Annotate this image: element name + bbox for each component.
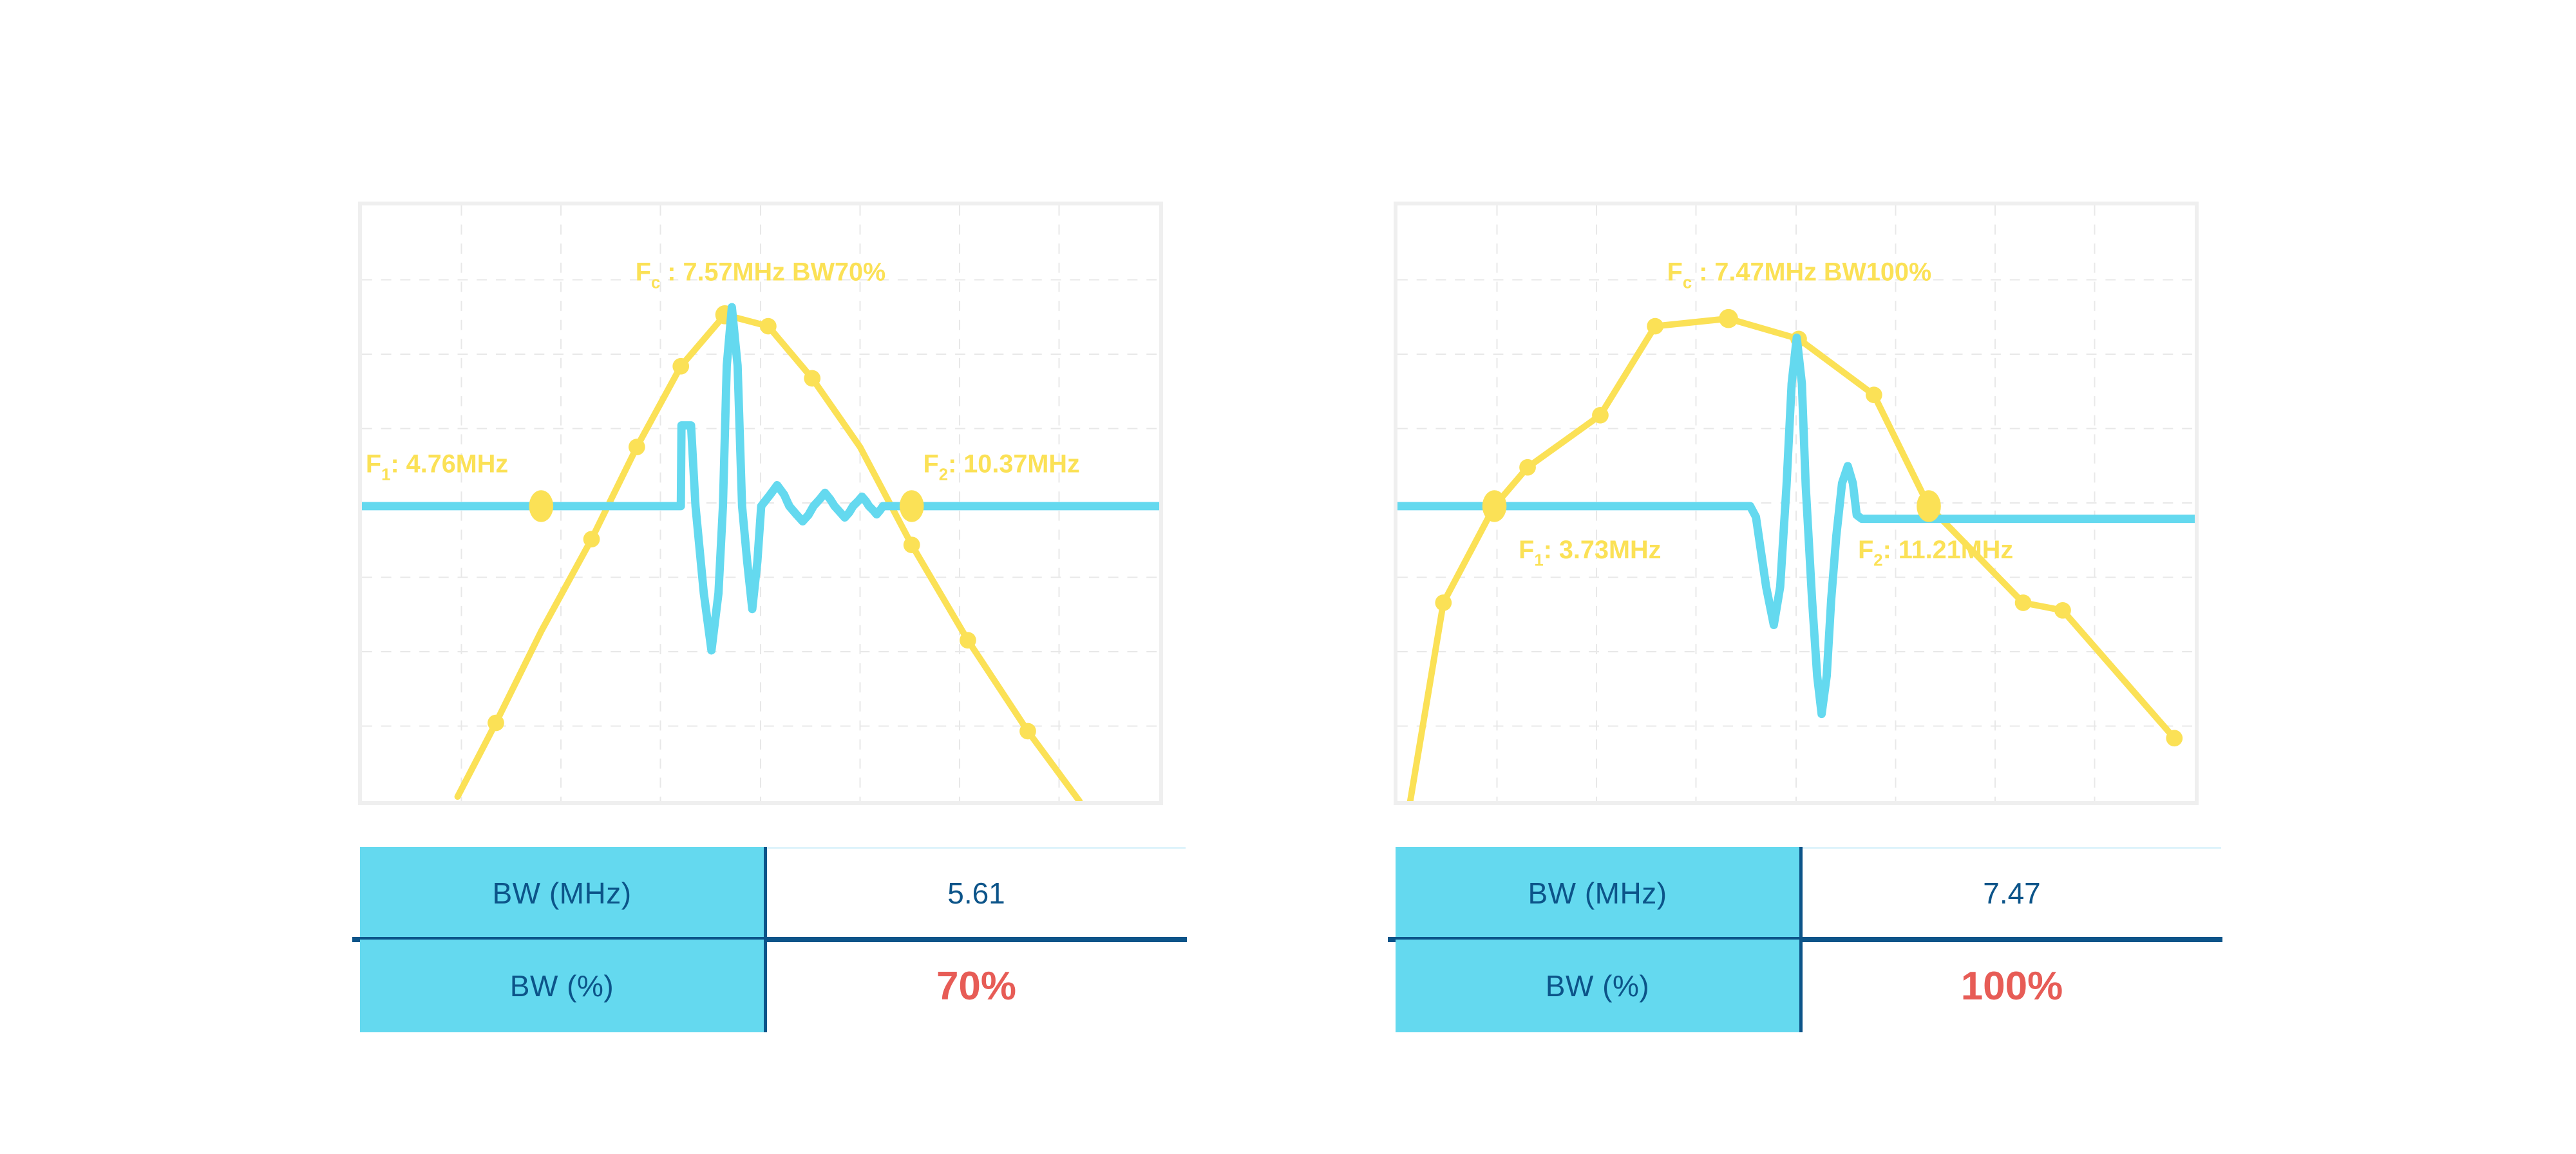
spectrum-plot-right: Fc : 7.47MHz BW100% F1: 3.73MHz F2: 11.2… bbox=[1397, 205, 2195, 801]
bw-mhz-value-left: 5.61 bbox=[767, 847, 1186, 940]
bw-table-right: BW (MHz) 7.47 BW (%) 100% bbox=[1396, 847, 2221, 1032]
f2-text-right: : 11.21MHz bbox=[1883, 536, 2014, 564]
spectrum-curve-left bbox=[458, 315, 1080, 801]
f2-prefix-right: F bbox=[1858, 536, 1873, 564]
plot-frame-right: Fc : 7.47MHz BW100% F1: 3.73MHz F2: 11.2… bbox=[1394, 202, 2199, 805]
pulse-waveform-right bbox=[1397, 337, 2195, 714]
f1-subscript-right: 1 bbox=[1534, 552, 1543, 570]
f1-prefix-right: F bbox=[1519, 536, 1534, 564]
bw-pct-label-left: BW (%) bbox=[360, 940, 767, 1032]
fc-prefix-left: F bbox=[636, 258, 651, 287]
f2-subscript-left: 2 bbox=[939, 466, 948, 484]
spectrum-plot-left: Fc : 7.57MHz BW70% F1: 4.76MHz F2: 10.37… bbox=[362, 205, 1159, 801]
fc-prefix-right: F bbox=[1667, 258, 1683, 287]
f2-text-left: : 10.37MHz bbox=[948, 450, 1080, 478]
f1-marker bbox=[529, 490, 553, 522]
f1-text-right: : 3.73MHz bbox=[1544, 536, 1662, 564]
bw-mhz-value-right: 7.47 bbox=[1803, 847, 2221, 940]
f2-subscript-right: 2 bbox=[1873, 552, 1882, 570]
f2-annotation-left: F2: 10.37MHz bbox=[923, 450, 1080, 484]
bw-pct-value-left: 70% bbox=[767, 940, 1186, 1032]
plot-frame-left: Fc : 7.57MHz BW70% F1: 4.76MHz F2: 10.37… bbox=[358, 202, 1163, 805]
bandwidth-comparison-figure: Fc : 7.57MHz BW70% F1: 4.76MHz F2: 10.37… bbox=[0, 0, 2576, 1154]
f1-subscript-left: 1 bbox=[381, 466, 390, 484]
fc-annotation-right: Fc : 7.47MHz BW100% bbox=[1667, 258, 1932, 292]
fc-text-right: : 7.47MHz BW100% bbox=[1692, 258, 1931, 287]
bw-pct-value-right: 100% bbox=[1803, 940, 2221, 1032]
table-row: BW (MHz) 5.61 bbox=[360, 847, 1186, 940]
table-row: BW (%) 70% bbox=[360, 940, 1186, 1032]
fc-subscript-left: c bbox=[651, 274, 660, 292]
f2-prefix-left: F bbox=[923, 450, 939, 478]
fc-text-left: : 7.57MHz BW70% bbox=[660, 258, 885, 287]
bw-table-left: BW (MHz) 5.61 BW (%) 70% bbox=[360, 847, 1186, 1032]
f2-marker bbox=[900, 490, 924, 522]
f1-prefix-left: F bbox=[366, 450, 381, 478]
bw-mhz-label-right: BW (MHz) bbox=[1396, 847, 1803, 940]
bw-mhz-label-left: BW (MHz) bbox=[360, 847, 767, 940]
table-row: BW (MHz) 7.47 bbox=[1396, 847, 2221, 940]
f1-annotation-right: F1: 3.73MHz bbox=[1519, 536, 1661, 570]
f2-marker bbox=[1917, 490, 1941, 522]
table-row: BW (%) 100% bbox=[1396, 940, 2221, 1032]
f1-annotation-left: F1: 4.76MHz bbox=[366, 450, 508, 484]
f1-text-left: : 4.76MHz bbox=[390, 450, 508, 478]
bw-pct-label-right: BW (%) bbox=[1396, 940, 1803, 1032]
f1-marker bbox=[1482, 490, 1507, 522]
fc-subscript-right: c bbox=[1683, 274, 1692, 292]
